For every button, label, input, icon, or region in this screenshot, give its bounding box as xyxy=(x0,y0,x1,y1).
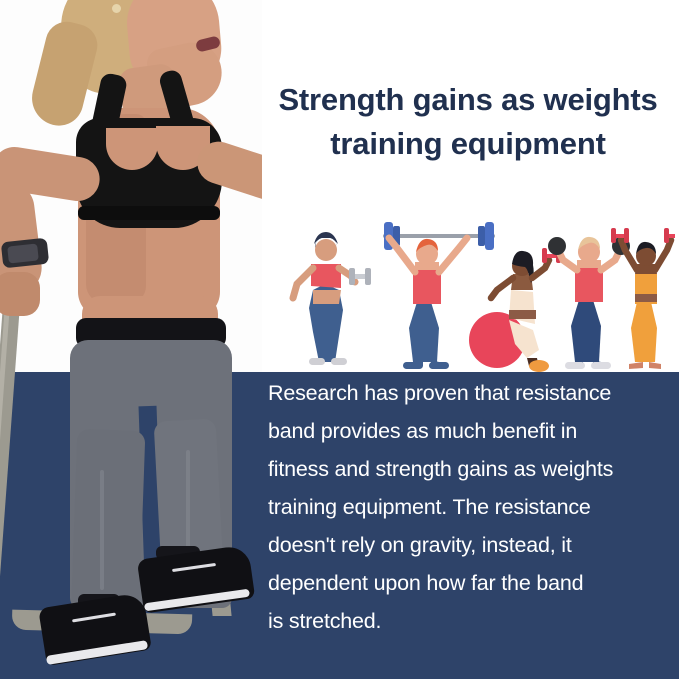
headline-line-2: training equipment xyxy=(266,122,670,166)
figure-woman-on-exercise-ball xyxy=(469,248,561,372)
body-line-1: Research has proven that resistance xyxy=(268,374,672,412)
body-line-7: is stretched. xyxy=(268,602,672,640)
product-marketing-image: Strength gains as weights training equip… xyxy=(0,0,679,679)
body-line-5: doesn't rely on gravity, instead, it xyxy=(268,526,672,564)
smartwatch-face xyxy=(7,243,39,263)
fitness-illustration-strip xyxy=(283,212,675,372)
illustration-svg xyxy=(283,212,675,372)
body-line-3: fitness and strength gains as weights xyxy=(268,450,672,488)
bra-underband xyxy=(78,206,220,220)
page-title: Strength gains as weights training equip… xyxy=(266,78,670,166)
headline-line-1: Strength gains as weights xyxy=(266,78,670,122)
leggings-seam-left xyxy=(100,470,104,590)
figure-man-shoulder-press xyxy=(548,237,630,369)
barbell-icon xyxy=(383,222,495,250)
body-line-6: dependent upon how far the band xyxy=(268,564,672,602)
earring xyxy=(112,4,121,13)
dumbbell-icon xyxy=(349,268,371,285)
figure-woman-with-dumbbell xyxy=(293,232,371,365)
body-line-4: training equipment. The resistance xyxy=(268,488,672,526)
leggings-seam-right xyxy=(186,450,190,560)
product-photo-woman-with-band xyxy=(0,0,262,679)
hand-gripping-band xyxy=(0,272,40,316)
body-paragraph: Research has proven that resistance band… xyxy=(268,374,672,640)
body-line-2: band provides as much benefit in xyxy=(268,412,672,450)
